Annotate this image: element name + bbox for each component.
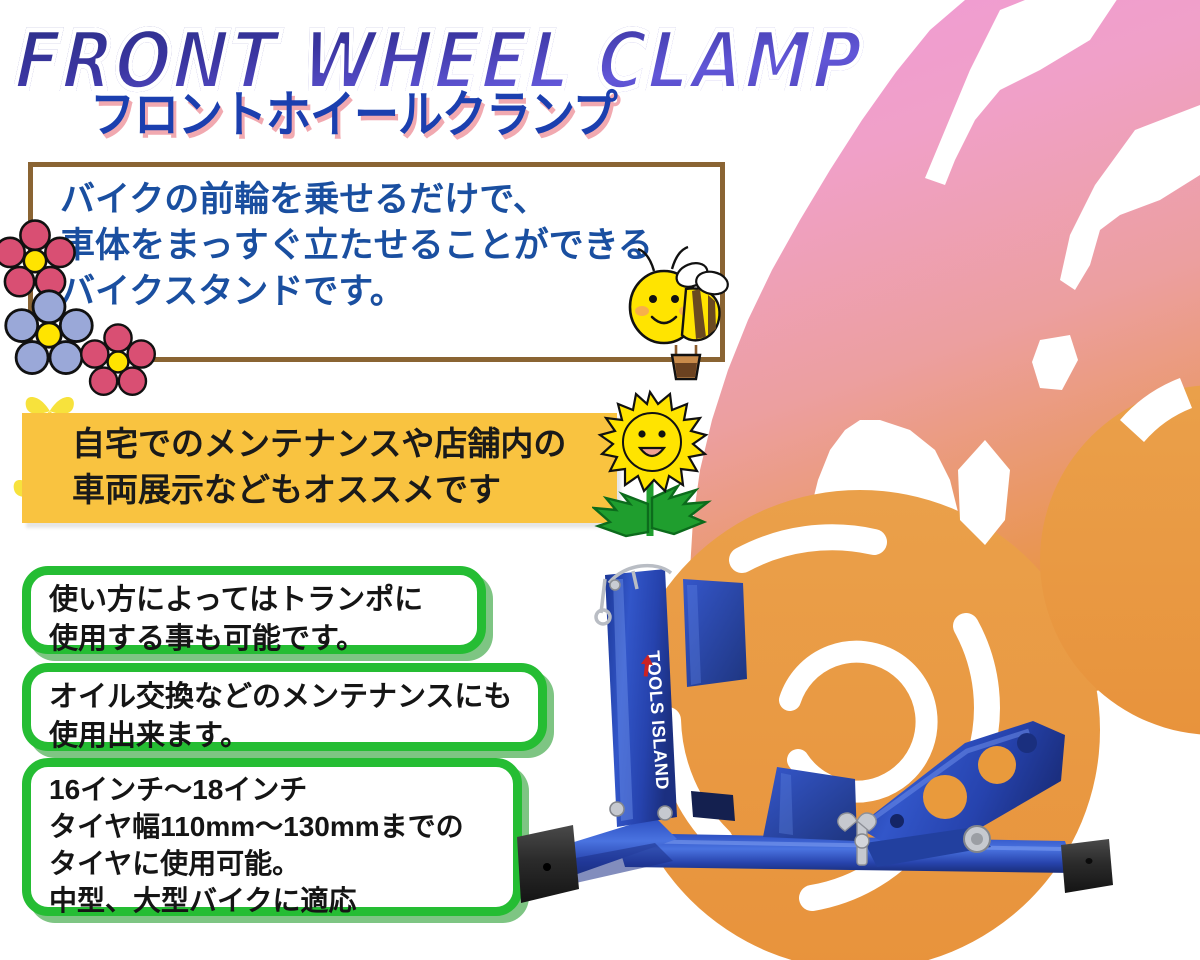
green1-line-1: 使い方によってはトランポに: [49, 581, 423, 620]
recommendation-box-yellow: 自宅でのメンテナンスや店舗内の 車両展示などもオススメです: [22, 413, 617, 523]
green3-line-3: タイヤに使用可能。: [49, 846, 464, 883]
description-box-brown: バイクの前輪を乗せるだけで、 車体をまっすぐ立たせることができる バイクスタンド…: [28, 162, 725, 362]
green2-line-1: オイル交換などのメンテナンスにも: [49, 678, 512, 717]
advertisement-canvas: FRONT WHEEL CLAMP フロントホイールクランプ バイクの前輪を乗せ…: [0, 0, 1200, 960]
green3-line-2: タイヤ幅110mm〜130mmまでの: [49, 809, 464, 846]
feature-box-maintenance: オイル交換などのメンテナンスにも 使用出来ます。: [22, 663, 547, 751]
title-japanese: フロントホイールクランプ: [90, 74, 617, 147]
feature-box-transport-text: 使い方によってはトランポに 使用する事も可能です。: [49, 581, 423, 659]
yellow-line-1: 自宅でのメンテナンスや店舗内の: [72, 421, 566, 467]
green3-line-4: 中型、大型バイクに適応: [49, 883, 464, 920]
description-box-brown-text: バイクの前輪を乗せるだけで、 車体をまっすぐ立たせることができる バイクスタンド…: [60, 177, 653, 316]
feature-box-specifications-text: 16インチ〜18インチ タイヤ幅110mm〜130mmまでの タイヤに使用可能。…: [49, 772, 464, 920]
yellow-line-2: 車両展示などもオススメです: [72, 467, 566, 513]
recommendation-box-yellow-text: 自宅でのメンテナンスや店舗内の 車両展示などもオススメです: [72, 421, 566, 512]
green3-line-1: 16インチ〜18インチ: [49, 772, 464, 809]
green2-line-2: 使用出来ます。: [49, 717, 512, 756]
brown-line-1: バイクの前輪を乗せるだけで、: [60, 177, 653, 223]
product-photo-wheel-clamp: TOOLS ISLAND: [505, 555, 1185, 935]
rubber-foot-right: [1061, 839, 1113, 893]
feature-box-maintenance-text: オイル交換などのメンテナンスにも 使用出来ます。: [49, 678, 512, 756]
green1-line-2: 使用する事も可能です。: [49, 620, 423, 659]
feature-box-transport: 使い方によってはトランポに 使用する事も可能です。: [22, 566, 486, 654]
brown-line-2: 車体をまっすぐ立たせることができる: [60, 223, 653, 269]
feature-box-specifications: 16インチ〜18インチ タイヤ幅110mm〜130mmまでの タイヤに使用可能。…: [22, 758, 522, 916]
page-title: FRONT WHEEL CLAMP フロントホイールクランプ: [12, 12, 792, 132]
brown-line-3: バイクスタンドです。: [60, 269, 653, 315]
